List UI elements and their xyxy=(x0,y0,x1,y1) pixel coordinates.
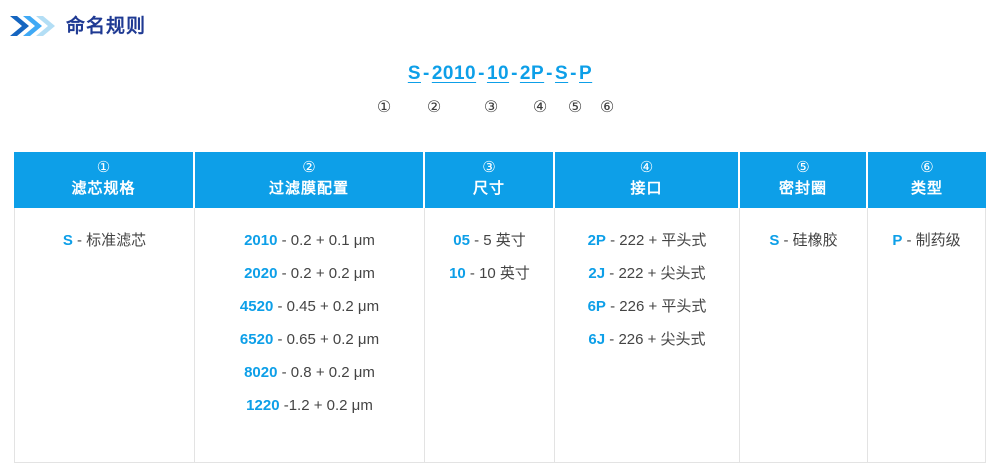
option-item: 2P - 222 + 平头式 xyxy=(555,224,739,257)
option-desc: - 5 英寸 xyxy=(470,232,526,249)
code-dash-4: - xyxy=(544,63,555,84)
option-item: 4520 - 0.45 + 0.2 μm xyxy=(195,290,424,323)
option-item: 6520 - 0.65 + 0.2 μm xyxy=(195,323,424,356)
option-code: 2P xyxy=(588,232,606,249)
table-header-num-6: ⑥ xyxy=(868,158,986,178)
option-code: 6J xyxy=(588,331,605,348)
table-header-cell-5: ⑤ 密封圈 xyxy=(740,152,868,208)
table-header-cell-6: ⑥ 类型 xyxy=(868,152,986,208)
code-segment-4: 2P xyxy=(520,63,544,84)
option-code: 10 xyxy=(449,265,466,282)
option-code: P xyxy=(892,232,902,249)
table-header-label-6: 类型 xyxy=(868,178,986,200)
option-code: S xyxy=(63,232,73,249)
code-dash-2: - xyxy=(476,63,487,84)
table-header-cell-4: ④ 接口 xyxy=(555,152,740,208)
option-list-connector: 2P - 222 + 平头式2J - 222 + 尖头式6P - 226 + 平… xyxy=(555,224,739,356)
page-header: 命名规则 xyxy=(0,0,1000,52)
option-item: 10 - 10 英寸 xyxy=(425,257,554,290)
option-desc: -1.2 + 0.2 μm xyxy=(280,397,373,414)
option-code: 6P xyxy=(588,298,606,315)
table-cell-connector: 2P - 222 + 平头式2J - 222 + 尖头式6P - 226 + 平… xyxy=(555,208,740,463)
option-desc: - 226 + 尖头式 xyxy=(605,331,705,348)
option-list-type: P - 制药级 xyxy=(868,224,985,257)
code-marker-5: ⑤ xyxy=(568,98,582,118)
code-marker-1: ① xyxy=(377,98,391,118)
table-header-cell-3: ③ 尺寸 xyxy=(425,152,555,208)
table-header-num-2: ② xyxy=(195,158,423,178)
table-cell-filter-spec: S - 标准滤芯 xyxy=(14,208,195,463)
option-item: 1220 -1.2 + 0.2 μm xyxy=(195,389,424,422)
code-dash-1: - xyxy=(421,63,432,84)
double-chevron-right-icon xyxy=(10,13,56,39)
option-desc: - 10 英寸 xyxy=(466,265,530,282)
option-item: S - 标准滤芯 xyxy=(15,224,194,257)
table-header-cell-2: ② 过滤膜配置 xyxy=(195,152,425,208)
option-item: 6P - 226 + 平头式 xyxy=(555,290,739,323)
option-code: 4520 xyxy=(240,298,273,315)
option-code: 8020 xyxy=(244,364,277,381)
table-header-label-5: 密封圈 xyxy=(740,178,866,200)
code-marker-6: ⑥ xyxy=(600,98,614,118)
table-cell-seal-ring: S - 硅橡胶 xyxy=(740,208,868,463)
option-desc: - 标准滤芯 xyxy=(73,232,146,249)
code-segment-6: P xyxy=(579,63,592,84)
option-item: P - 制药级 xyxy=(868,224,985,257)
option-desc: - 制药级 xyxy=(902,232,960,249)
table-header-label-4: 接口 xyxy=(555,178,738,200)
option-desc: - 0.8 + 0.2 μm xyxy=(277,364,374,381)
code-segment-1: S xyxy=(408,63,421,84)
code-dash-3: - xyxy=(509,63,520,84)
option-desc: - 222 + 尖头式 xyxy=(605,265,705,282)
option-list-seal-ring: S - 硅橡胶 xyxy=(740,224,867,257)
table-header-num-3: ③ xyxy=(425,158,553,178)
table-cell-type: P - 制药级 xyxy=(868,208,986,463)
option-item: 2010 - 0.2 + 0.1 μm xyxy=(195,224,424,257)
option-desc: - 0.2 + 0.1 μm xyxy=(277,232,374,249)
table-cell-size: 05 - 5 英寸10 - 10 英寸 xyxy=(425,208,555,463)
option-list-size: 05 - 5 英寸10 - 10 英寸 xyxy=(425,224,554,290)
option-list-filter-spec: S - 标准滤芯 xyxy=(15,224,194,257)
page-title: 命名规则 xyxy=(66,17,146,36)
option-item: S - 硅橡胶 xyxy=(740,224,867,257)
option-list-membrane-config: 2010 - 0.2 + 0.1 μm2020 - 0.2 + 0.2 μm45… xyxy=(195,224,424,422)
option-item: 05 - 5 英寸 xyxy=(425,224,554,257)
code-dash-5: - xyxy=(568,63,579,84)
code-segment-2: 2010 xyxy=(432,63,476,84)
code-marker-4: ④ xyxy=(533,98,547,118)
table-header-cell-1: ① 滤芯规格 xyxy=(14,152,195,208)
option-item: 8020 - 0.8 + 0.2 μm xyxy=(195,356,424,389)
option-desc: - 0.65 + 0.2 μm xyxy=(273,331,379,348)
code-marker-3: ③ xyxy=(484,98,498,118)
table-header-label-3: 尺寸 xyxy=(425,178,553,200)
option-code: 6520 xyxy=(240,331,273,348)
code-segment-5: S xyxy=(555,63,568,84)
code-segment-3: 10 xyxy=(487,63,509,84)
option-item: 6J - 226 + 尖头式 xyxy=(555,323,739,356)
naming-code-line: S-2010-10-2P-S-P xyxy=(0,63,1000,85)
option-code: 05 xyxy=(453,232,470,249)
table-cell-membrane-config: 2010 - 0.2 + 0.1 μm2020 - 0.2 + 0.2 μm45… xyxy=(195,208,425,463)
option-code: S xyxy=(769,232,779,249)
option-code: 2J xyxy=(588,265,605,282)
code-marker-2: ② xyxy=(427,98,441,118)
table-body-row: S - 标准滤芯 2010 - 0.2 + 0.1 μm2020 - 0.2 +… xyxy=(14,208,986,463)
option-desc: - 0.2 + 0.2 μm xyxy=(277,265,374,282)
option-desc: - 222 + 平头式 xyxy=(606,232,706,249)
option-desc: - 226 + 平头式 xyxy=(606,298,706,315)
option-code: 2010 xyxy=(244,232,277,249)
table-header-label-2: 过滤膜配置 xyxy=(195,178,423,200)
option-code: 1220 xyxy=(246,397,279,414)
table-header-num-5: ⑤ xyxy=(740,158,866,178)
table-header-num-4: ④ xyxy=(555,158,738,178)
table-header-row: ① 滤芯规格 ② 过滤膜配置 ③ 尺寸 ④ 接口 ⑤ 密封圈 ⑥ 类型 xyxy=(14,152,986,208)
table-header-label-1: 滤芯规格 xyxy=(14,178,193,200)
option-desc: - 0.45 + 0.2 μm xyxy=(273,298,379,315)
table-header-num-1: ① xyxy=(14,158,193,178)
naming-rule-table: ① 滤芯规格 ② 过滤膜配置 ③ 尺寸 ④ 接口 ⑤ 密封圈 ⑥ 类型 xyxy=(14,152,986,463)
option-item: 2J - 222 + 尖头式 xyxy=(555,257,739,290)
option-code: 2020 xyxy=(244,265,277,282)
option-item: 2020 - 0.2 + 0.2 μm xyxy=(195,257,424,290)
option-desc: - 硅橡胶 xyxy=(779,232,837,249)
code-marker-row: ① ② ③ ④ ⑤ ⑥ xyxy=(0,98,1000,124)
